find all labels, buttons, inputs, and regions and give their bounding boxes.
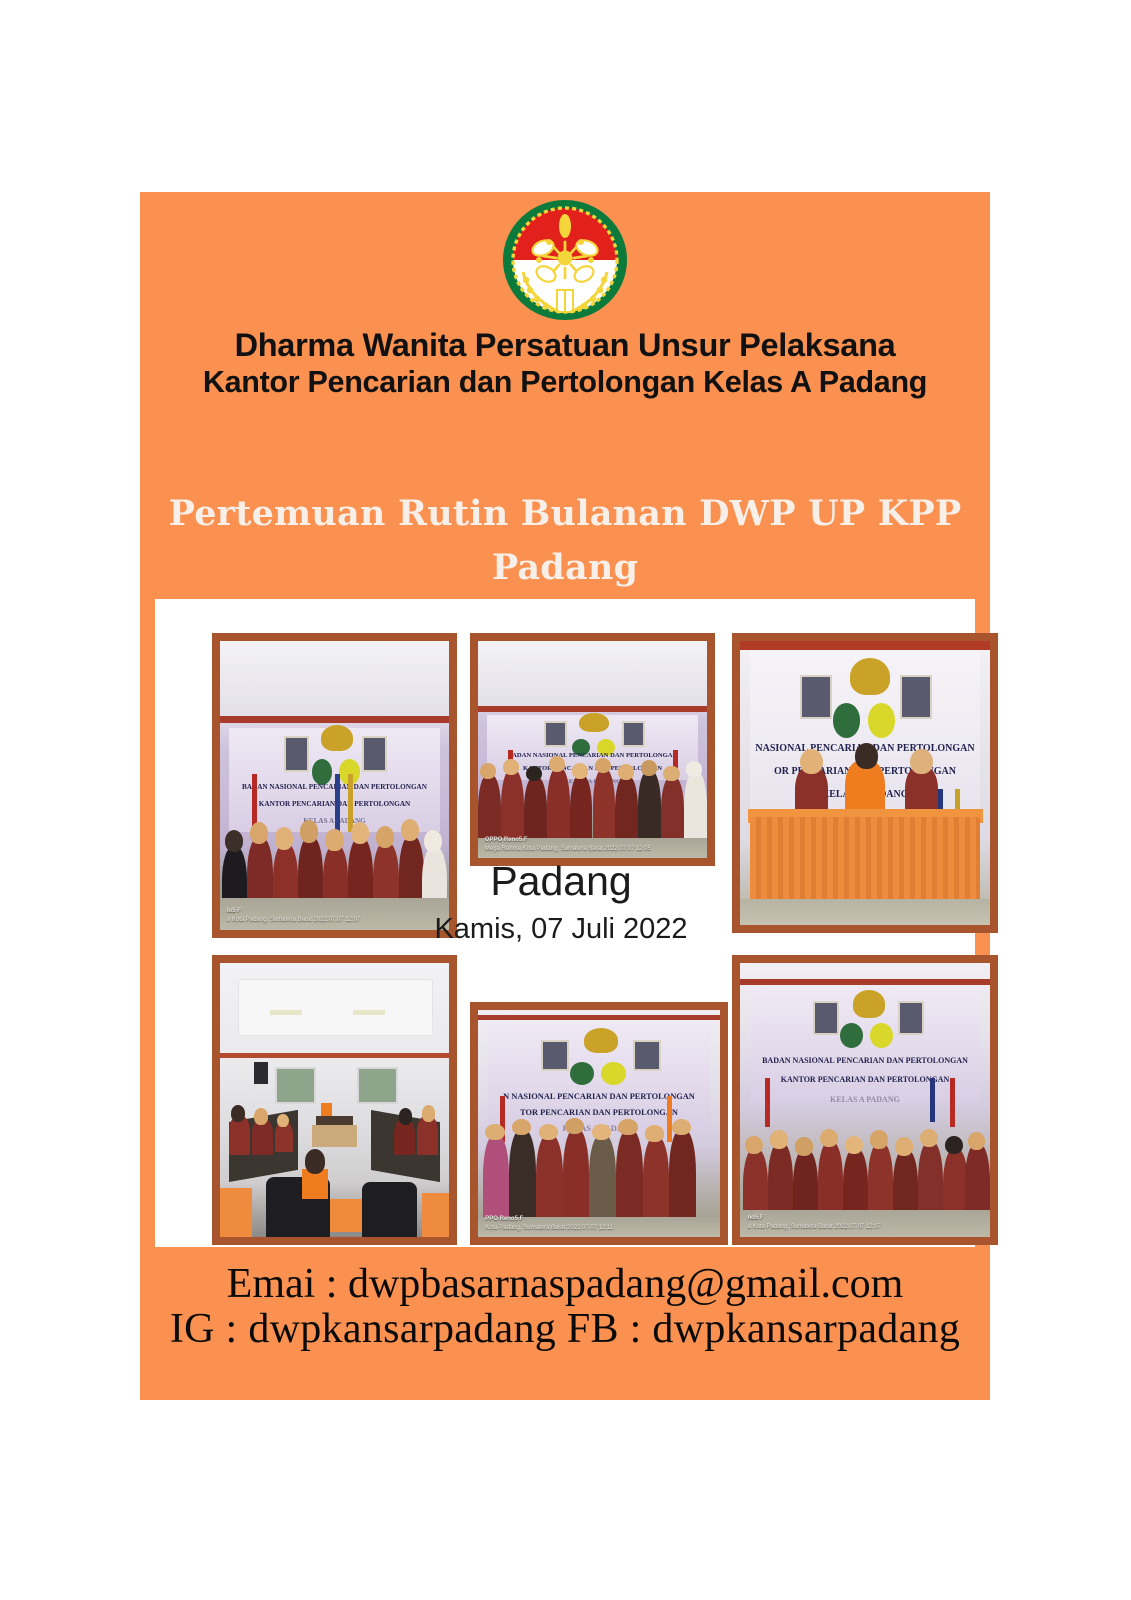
event-title-line-1: Pertemuan Rutin Bulanan DWP UP KPP	[140, 487, 990, 541]
photo-6-stamp-line-2: a Kota Padang, Sumatera Barat 2022.07.07…	[748, 1224, 881, 1230]
event-title-line-2: Padang	[140, 541, 990, 595]
poster-canvas: Dharma Wanita Persatuan Unsur Pelaksana …	[140, 192, 990, 1400]
photo-6-timestamp: no5 F a Kota Padang, Sumatera Barat 2022…	[748, 1214, 881, 1231]
caption-date: Kamis, 07 Juli 2022	[430, 910, 692, 949]
contact-social: IG : dwpkansarpadang FB : dwpkansarpadan…	[118, 1307, 1012, 1352]
dharma-wanita-logo-icon	[499, 198, 631, 322]
photo-group-seated[interactable]: BADAN NASIONAL PENCARIAN DAN PERTOLONGAN…	[212, 633, 457, 938]
photo-5-banner-line-1: N NASIONAL PENCARIAN DAN PERTOLONGAN	[478, 1092, 720, 1101]
photo-2-stamp-line-1: OPPO Reno5 F	[485, 837, 528, 843]
photo-2-stamp-line-2: Mega Rahma Kota Padang, Sumatera Barat 2…	[485, 846, 651, 852]
photo-2-timestamp: OPPO Reno5 F Mega Rahma Kota Padang, Sum…	[485, 836, 651, 853]
contact-email: Emai : dwpbasarnaspadang@gmail.com	[118, 1262, 1012, 1307]
organization-heading: Dharma Wanita Persatuan Unsur Pelaksana …	[140, 327, 990, 400]
photo-5-stamp-line-1: PPO Reno5 F	[485, 1216, 523, 1222]
photo-1-stamp-line-2: a Kota Padang, Sumatera Barat 2022.07.07…	[227, 917, 360, 923]
photo-group-with-gifts[interactable]: N NASIONAL PENCARIAN DAN PERTOLONGAN TOR…	[470, 1002, 728, 1245]
photo-head-table[interactable]: NASIONAL PENCARIAN DAN PERTOLONGAN OR PE…	[732, 633, 998, 933]
photo-1-timestamp: io5 F a Kota Padang, Sumatera Barat 2022…	[227, 907, 360, 924]
photo-1-stamp-line-1: io5 F	[227, 908, 241, 914]
logo-container	[140, 198, 990, 327]
contact-footer: Emai : dwpbasarnaspadang@gmail.com IG : …	[118, 1262, 1012, 1351]
photo-meeting-room[interactable]	[212, 955, 457, 1245]
org-heading-line-2: Kantor Pencarian dan Pertolongan Kelas A…	[140, 365, 990, 399]
photo-group-standing[interactable]: BADAN NASIONAL PENCARIAN DAN PERTOLONGAN…	[470, 633, 715, 866]
event-caption: Padang Kamis, 07 Juli 2022	[430, 861, 692, 949]
org-heading-line-1: Dharma Wanita Persatuan Unsur Pelaksana	[140, 327, 990, 363]
photo-collage-panel: BADAN NASIONAL PENCARIAN DAN PERTOLONGAN…	[155, 599, 975, 1247]
event-title: Pertemuan Rutin Bulanan DWP UP KPP Padan…	[140, 487, 990, 596]
photo-6-banner-line-1: BADAN NASIONAL PENCARIAN DAN PERTOLONGAN	[740, 1056, 990, 1065]
photo-5-timestamp: PPO Reno5 F Kota Padang, Sumatera Barat …	[485, 1215, 613, 1232]
photo-full-group[interactable]: BADAN NASIONAL PENCARIAN DAN PERTOLONGAN…	[732, 955, 998, 1245]
caption-city: Padang	[430, 861, 692, 902]
photo-5-stamp-line-2: Kota Padang, Sumatera Barat 2022.07.07 1…	[485, 1225, 613, 1231]
photo-6-stamp-line-1: no5 F	[748, 1215, 764, 1221]
